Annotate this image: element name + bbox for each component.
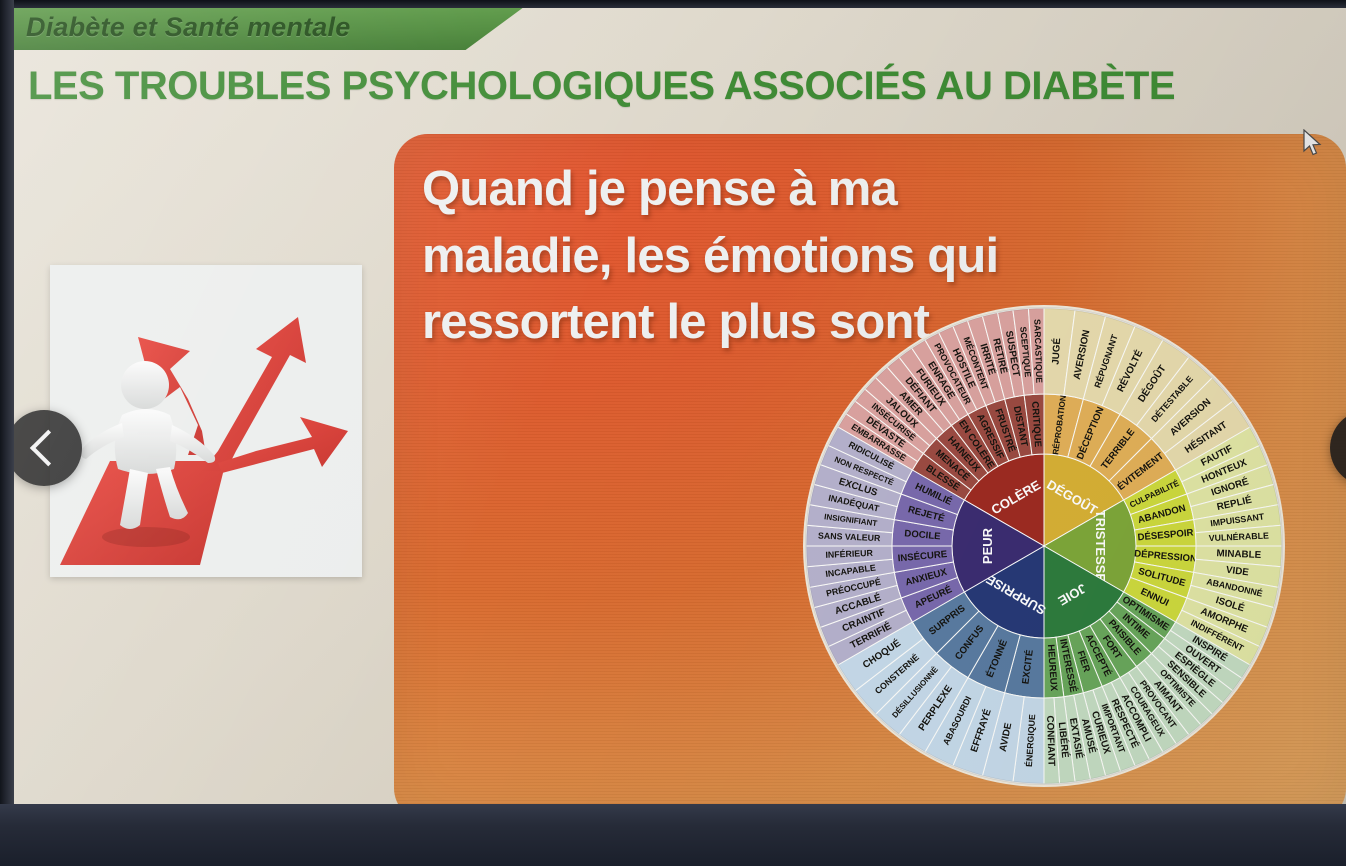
wheel-outer-label: JUGÉ [1049, 337, 1063, 365]
wheel-core-label: PEUR [980, 527, 995, 564]
mouse-cursor-icon [1302, 129, 1324, 159]
screen-bezel-top [0, 0, 1346, 8]
wheel-outer-label: SARCASTIQUE [1032, 319, 1044, 383]
screen-bezel-left [0, 0, 14, 820]
chevron-left-icon [30, 430, 67, 467]
crossroads-arrows-illustration [50, 265, 362, 577]
content-card: Quand je pense à ma maladie, les émotion… [394, 134, 1346, 818]
emotion-wheel: COLÈREBLESSÉMENACÉHAINEUXEN COLÈREAGRESS… [794, 296, 1294, 796]
emotion-wheel-svg: COLÈREBLESSÉMENACÉHAINEUXEN COLÈREAGRESS… [794, 296, 1294, 796]
slide-canvas: Diabète et Santé mentale LES TROUBLES PS… [12, 6, 1346, 818]
wheel-outer-label: CONFIANT [1044, 715, 1057, 766]
projected-screen-photo: Diabète et Santé mentale LES TROUBLES PS… [0, 0, 1346, 866]
deck-ribbon-label: Diabète et Santé mentale [12, 12, 350, 43]
wheel-outer-label: INFÉRIEUR [825, 548, 873, 560]
wheel-core-label: TRISTESSE [1093, 510, 1108, 583]
deck-ribbon-tag: Diabète et Santé mentale [12, 6, 528, 50]
illustration-crossroads-figure [50, 265, 362, 577]
slide-title: LES TROUBLES PSYCHOLOGIQUES ASSOCIÉS AU … [28, 64, 1328, 109]
screen-bezel-bottom [0, 804, 1346, 866]
wheel-outer-label: MINABLE [1216, 548, 1262, 561]
